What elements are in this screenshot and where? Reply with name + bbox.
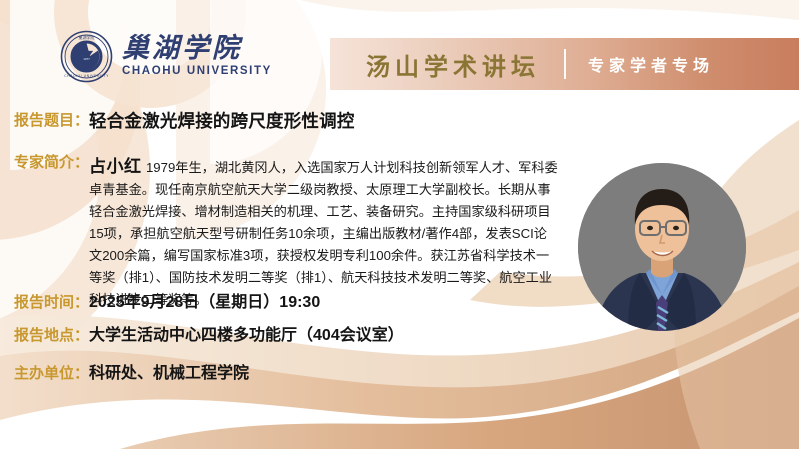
report-time-label: 报告时间： — [14, 292, 89, 314]
report-host-row: 主办单位： 科研处、机械工程学院 — [14, 363, 249, 385]
poster: 巢湖学院 CHAOHU UNIVERSITY 1977 巢湖学院 CHAOHU … — [0, 0, 799, 449]
report-host-value: 科研处、机械工程学院 — [89, 363, 249, 385]
report-title-row: 报告题目： 轻合金激光焊接的跨尺度形性调控 — [14, 110, 355, 132]
speaker-portrait — [578, 163, 746, 331]
report-place-label: 报告地点： — [14, 325, 89, 347]
speaker-bio-label: 专家简介： — [14, 152, 89, 174]
speaker-bio-row: 专家简介： 占小红 1979年生，湖北黄冈人，入选国家万人计划科技创新领军人才、… — [14, 152, 574, 311]
speaker-bio-text: 1979年生，湖北黄冈人，入选国家万人计划科技创新领军人才、军科委卓青基金。现任… — [89, 160, 558, 307]
report-title-value: 轻合金激光焊接的跨尺度形性调控 — [89, 110, 355, 132]
speaker-portrait-illustration — [578, 163, 746, 331]
report-place-row: 报告地点： 大学生活动中心四楼多功能厅（404会议室） — [14, 325, 404, 347]
speaker-name: 占小红 — [89, 157, 142, 176]
report-place-value: 大学生活动中心四楼多功能厅（404会议室） — [89, 325, 404, 347]
report-time-row: 报告时间： 2025年9月28日（星期日）19:30 — [14, 292, 320, 314]
report-host-label: 主办单位： — [14, 363, 89, 385]
report-title-label: 报告题目： — [14, 110, 89, 132]
report-time-value: 2025年9月28日（星期日）19:30 — [89, 292, 320, 314]
speaker-bio-body: 占小红 1979年生，湖北黄冈人，入选国家万人计划科技创新领军人才、军科委卓青基… — [89, 152, 559, 311]
